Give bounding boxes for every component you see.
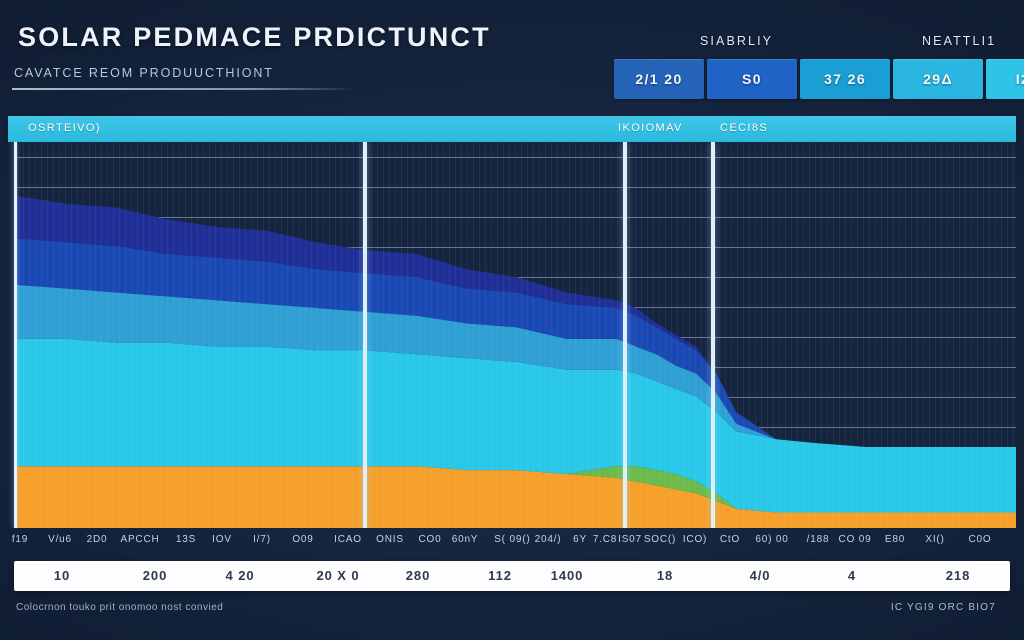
x-tick-label-25: XI(): [925, 534, 944, 545]
x-tick-label-2: 2D0: [87, 534, 108, 545]
kpi-caption-neattlim: NEATTLI1: [922, 34, 996, 48]
x-tick-label-11: 60nY: [452, 534, 479, 545]
title-divider: [12, 88, 355, 90]
kpi-button-3[interactable]: 29Δ: [893, 59, 983, 99]
x-tick-label-7: O09: [292, 534, 313, 545]
kpi-button-label-0: 2/1 20: [635, 71, 682, 87]
value-cell-6: 1400: [551, 568, 584, 583]
area-series-group: [8, 142, 1016, 528]
x-tick-label-24: E80: [885, 534, 905, 545]
x-tick-label-13: 09(): [510, 534, 531, 545]
solar-prediction-dashboard: SOLAR PEDMACE PRDICTUNCT CAVATCE REOM PR…: [0, 0, 1024, 640]
chart-header-label-1: IKOIOMAV: [618, 122, 683, 134]
chart-header-bar: OSRTEIVO) IKOIOMAV CECI8S: [8, 116, 1016, 142]
chart-header-label-0: OSRTEIVO): [28, 122, 101, 134]
section-divider-0: [363, 142, 367, 528]
kpi-button-0[interactable]: 2/1 20: [614, 59, 704, 99]
x-tick-label-10: CO0: [419, 534, 442, 545]
x-tick-label-22: /188: [807, 534, 830, 545]
value-cell-0: 10: [54, 568, 70, 583]
footer-note-right: IC YGI9 ORC BIO7: [891, 602, 996, 613]
x-tick-label-21: 60) 00: [755, 534, 788, 545]
kpi-caption-stability: SIABRLIY: [700, 34, 773, 48]
footer-note-left: Colocrnon touko prit onomoo nost convied: [16, 602, 223, 613]
y-axis-line: [14, 142, 17, 528]
section-divider-1: [623, 142, 627, 528]
value-cell-3: 20 X 0: [317, 568, 360, 583]
value-cell-7: 18: [657, 568, 673, 583]
x-tick-label-4: 13S: [176, 534, 196, 545]
kpi-button-label-4: I2/Λ: [1016, 71, 1024, 87]
section-divider-2: [711, 142, 715, 528]
x-tick-label-19: ICO): [683, 534, 707, 545]
x-tick-label-9: ONIS: [376, 534, 404, 545]
kpi-button-2[interactable]: 37 26: [800, 59, 890, 99]
value-cell-5: 112: [488, 568, 512, 583]
value-cell-9: 4: [848, 568, 856, 583]
chart-panel: OSRTEIVO) IKOIOMAV CECI8S: [8, 116, 1016, 528]
x-tick-label-18: SOC(): [644, 534, 676, 545]
kpi-button-label-1: S0: [742, 71, 762, 87]
x-tick-label-20: CtO: [720, 534, 740, 545]
x-tick-label-17: IS07: [618, 534, 642, 545]
value-cell-2: 4 20: [226, 568, 255, 583]
x-tick-label-8: ICAO: [334, 534, 362, 545]
page-title: SOLAR PEDMACE PRDICTUNCT: [18, 22, 491, 53]
chart-header-label-2: CECI8S: [720, 122, 768, 134]
kpi-button-row: 2/1 20S037 2629ΔI2/Λ: [614, 59, 1024, 99]
kpi-button-label-3: 29Δ: [923, 71, 953, 87]
header: SOLAR PEDMACE PRDICTUNCT CAVATCE REOM PR…: [0, 0, 1024, 110]
x-tick-label-15: 6Y: [573, 534, 587, 545]
x-tick-label-0: f19: [12, 534, 28, 545]
x-tick-label-6: I/7): [253, 534, 271, 545]
stacked-area-plot: [8, 142, 1016, 528]
x-tick-label-5: IOV: [212, 534, 232, 545]
x-tick-label-1: V/u6: [48, 534, 72, 545]
x-tick-label-12: S(: [494, 534, 506, 545]
kpi-button-1[interactable]: S0: [707, 59, 797, 99]
value-cell-1: 200: [143, 568, 167, 583]
kpi-button-label-2: 37 26: [824, 71, 866, 87]
x-tick-label-16: 7.C8: [593, 534, 617, 545]
page-subtitle: CAVATCE REOM PRODUUCTHIONT: [14, 66, 274, 80]
x-tick-label-26: C0O: [969, 534, 992, 545]
x-tick-label-23: CO 09: [839, 534, 872, 545]
x-tick-label-3: APCCH: [120, 534, 159, 545]
value-cell-8: 4/0: [750, 568, 771, 583]
x-axis-tick-strip: f19V/u62D0APCCH13SIOVI/7)O09ICAOONISCO06…: [0, 528, 1024, 558]
value-summary-bar: 102004 2020 X 02801121400184/04218: [14, 561, 1010, 591]
value-cell-4: 280: [406, 568, 430, 583]
x-tick-label-14: 204/): [535, 534, 562, 545]
value-cell-10: 218: [946, 568, 970, 583]
kpi-button-4[interactable]: I2/Λ: [986, 59, 1024, 99]
